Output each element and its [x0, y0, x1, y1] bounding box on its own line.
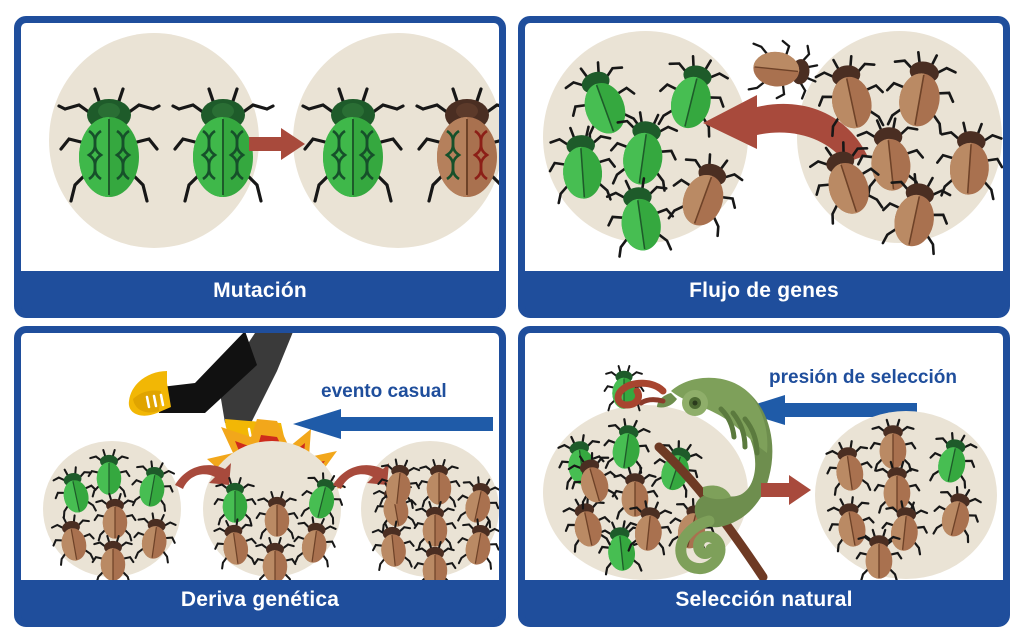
- panel-flujo-de-genes[interactable]: Flujo de genes: [518, 16, 1010, 318]
- beetle-brown: [290, 512, 341, 570]
- beetle-brown: [374, 454, 423, 510]
- beetle-brown: [253, 535, 297, 581]
- deriva-stage: evento casual: [21, 333, 499, 581]
- panel-caption-flujo-de-genes: Flujo de genes: [525, 271, 1003, 311]
- beetle-brown: [91, 533, 135, 581]
- panel-deriva-genetica[interactable]: evento casual: [14, 326, 506, 628]
- seleccion-stage: presión de selección: [525, 333, 1003, 581]
- panel-seleccion-natural[interactable]: presión de selección: [518, 326, 1010, 628]
- mutation-arrow-icon: [249, 126, 305, 162]
- beetle-brown-mutated-dna: [413, 81, 499, 206]
- beetle-green-dna: [55, 81, 163, 206]
- beetle-green-dna: [299, 81, 407, 206]
- evento-casual-arrow-icon: [293, 409, 493, 439]
- beetle-brown: [130, 508, 181, 566]
- beetle-brown: [255, 489, 299, 541]
- beetle-brown: [453, 513, 499, 572]
- evento-casual-label: evento casual: [321, 381, 447, 403]
- panel-caption-deriva-genetica: Deriva genética: [21, 580, 499, 620]
- selection-arrow-icon: [761, 473, 811, 507]
- panel-caption-mutacion: Mutación: [21, 271, 499, 311]
- panel-mutacion[interactable]: Mutación: [14, 16, 506, 318]
- evolution-mechanisms-figure: Mutación: [0, 0, 1024, 637]
- beetle-brown: [368, 516, 417, 572]
- chameleon-tongue-icon: [609, 375, 669, 409]
- panel-caption-seleccion-natural: Selección natural: [525, 580, 1003, 620]
- beetle-brown: [413, 539, 457, 581]
- mutacion-stage: [21, 23, 499, 271]
- beetle-brown: [873, 165, 959, 260]
- flujo-stage: [525, 23, 1003, 271]
- beetle-brown: [855, 527, 903, 581]
